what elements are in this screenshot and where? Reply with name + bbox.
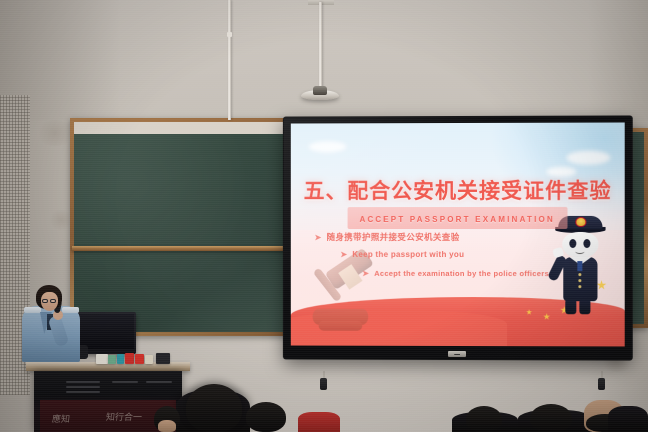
blackboard-surface <box>74 122 284 332</box>
desk-item-teal-box <box>117 354 124 364</box>
wall-speaker-bracket-right <box>601 371 603 378</box>
audience-head-1 <box>186 384 242 432</box>
speaker-glasses-left <box>42 299 48 303</box>
gavel-sound-block-base <box>319 321 363 331</box>
mascot-face <box>562 232 598 258</box>
audience-head-5 <box>530 404 572 432</box>
speaker-glasses-right <box>50 299 56 303</box>
classroom-photo-scene: 五、配合公安机关接受证件查验 ACCEPT PASSPORT EXAMINATI… <box>0 0 648 432</box>
slide-screen[interactable]: 五、配合公安机关接受证件查验 ACCEPT PASSPORT EXAMINATI… <box>291 122 625 346</box>
police-mascot-icon <box>550 215 610 325</box>
audience-neck-2 <box>158 420 176 432</box>
audience-member-3-clothing <box>298 412 340 432</box>
cloud-3 <box>309 141 347 152</box>
support-pipe <box>228 0 231 120</box>
bullet-text-1: 随身携带护照并接受公安机关查验 <box>327 231 460 243</box>
audience-member-7 <box>608 406 648 432</box>
mascot-leg-left <box>565 300 576 314</box>
podium-slat-5 <box>146 381 172 383</box>
desk-item-red-box-2 <box>135 354 144 364</box>
blackboard-left <box>70 118 288 336</box>
podium-calligraphy-right: 知行合一 <box>105 410 142 423</box>
desk-item-green-box <box>108 355 116 364</box>
wall-speaker-bracket-left <box>323 371 325 378</box>
wall-speaker-right <box>598 378 605 390</box>
mascot-cap-badge <box>575 217 586 227</box>
podium-slat-3 <box>66 391 100 393</box>
mascot-button-2 <box>578 279 581 282</box>
blackboard-middle-rail <box>72 246 286 251</box>
slide-bullet-1: ➤ 随身携带护照并接受公安机关查验 <box>315 231 460 243</box>
mascot-button-3 <box>578 285 581 288</box>
podium-slat-1 <box>66 381 100 383</box>
podium-slat-4 <box>112 381 138 383</box>
mascot-eye-left <box>569 239 576 248</box>
desk-item-red-box <box>125 353 134 364</box>
bullet-arrow-icon-1: ➤ <box>315 233 322 242</box>
speaker-shoulder-right <box>62 307 79 313</box>
podium-slat-2 <box>66 386 100 388</box>
bullet-arrow-icon-3: ➤ <box>362 269 369 278</box>
slide-bullet-3: ➤ Accept the examination by the police o… <box>362 269 549 278</box>
pipe-collar <box>227 32 232 37</box>
mascot-leg-right <box>579 300 590 314</box>
podium-monitor-screen <box>76 314 134 349</box>
slide-title: 五、配合公安机关接受证件查验 <box>291 175 625 205</box>
mascot-eye-right <box>583 239 590 248</box>
blackboard-top-ledge <box>74 122 284 134</box>
mascot-button-1 <box>578 273 581 276</box>
gavel-icon <box>305 255 394 335</box>
audience-head-3 <box>246 402 286 432</box>
bullet-text-2: Keep the passport with you <box>352 250 464 259</box>
slide-subtitle: ACCEPT PASSPORT EXAMINATION <box>360 215 556 224</box>
audience-head-4 <box>466 406 502 432</box>
projector-lens <box>313 86 327 95</box>
cloud-1 <box>566 151 610 165</box>
bullet-text-3: Accept the examination by the police off… <box>374 269 549 278</box>
mascot-tie <box>577 261 582 271</box>
speaker-shoulder-left <box>24 307 41 313</box>
slide-subtitle-bar: ACCEPT PASSPORT EXAMINATION <box>348 207 567 229</box>
projector-mount-pole <box>319 2 322 90</box>
bullet-arrow-icon-2: ➤ <box>340 250 347 259</box>
display-brand-label: ▬▬ <box>448 351 466 357</box>
desk-item-cream-box <box>145 355 153 364</box>
wall-speaker-left <box>320 378 327 390</box>
mascot-mouth <box>575 249 584 254</box>
desk-item-white-box <box>96 354 108 364</box>
desk-item-black-device <box>156 353 170 364</box>
podium-calligraphy-left: 應知 <box>51 412 70 425</box>
wall-stain-1 <box>35 120 75 146</box>
slide-bullet-2: ➤ Keep the passport with you <box>340 250 464 259</box>
wall-display[interactable]: 五、配合公安机关接受证件查验 ACCEPT PASSPORT EXAMINATI… <box>284 116 632 359</box>
